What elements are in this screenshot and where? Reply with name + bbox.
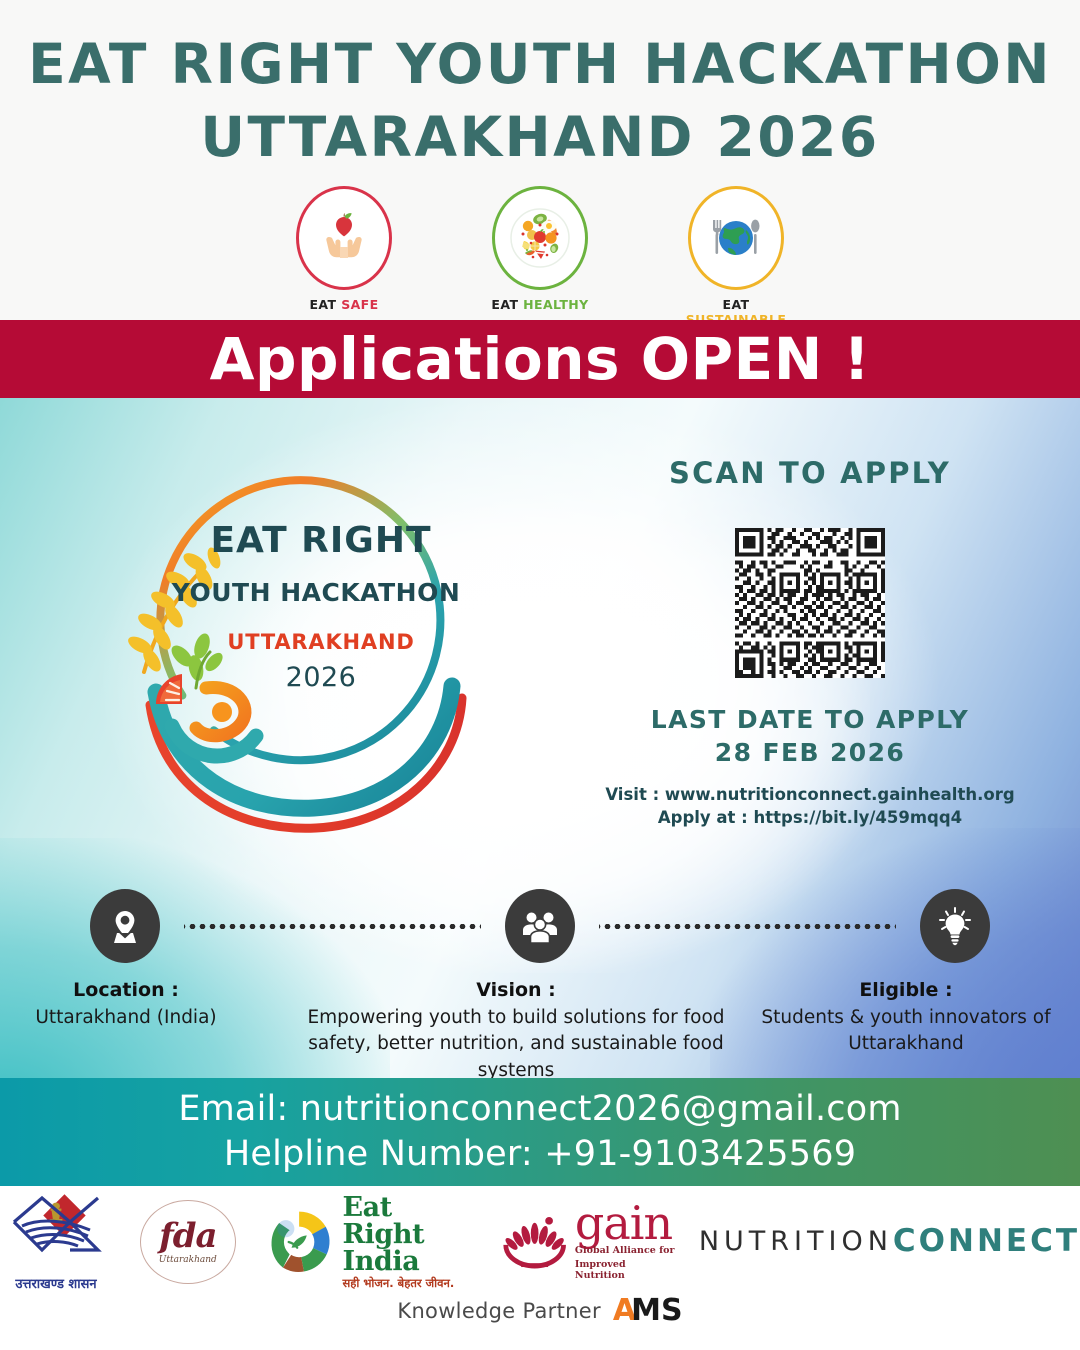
nutrition-connect-line-2: CONNECT: [893, 1226, 1080, 1258]
location-heading: Location :: [0, 979, 276, 1001]
badge-eat-sustainable: EAT SUSTAINABLE: [684, 186, 788, 327]
applications-open-banner: Applications OPEN !: [0, 320, 1080, 398]
hands-holding-apple-icon: [296, 186, 392, 290]
apply-column: SCAN TO APPLY: [600, 456, 1020, 829]
last-date-label: LAST DATE TO APPLY: [600, 704, 1020, 737]
banner-text: Applications OPEN !: [210, 325, 871, 393]
info-row: Location : Uttarakhand (India) Vision : …: [0, 883, 1080, 1073]
badge-label-eat-safe: EAT SAFE: [292, 297, 396, 312]
helpline-line[interactable]: Helpline Number: +91-9103425569: [224, 1132, 856, 1177]
nutrition-connect-line-1: NUTRITION: [699, 1228, 893, 1256]
info-block-eligible: Eligible : Students & youth innovators o…: [756, 979, 1056, 1058]
logo-line-1: EAT RIGHT: [206, 520, 436, 561]
eat-right-badges: EAT SAFE: [0, 186, 1080, 327]
gain-subtitle-line-1: Global Alliance for: [575, 1245, 675, 1256]
eligible-body: Students & youth innovators of Uttarakha…: [756, 1005, 1056, 1058]
ams-logo: A MS: [613, 1296, 683, 1326]
globe-fork-spoon-icon: [688, 186, 784, 290]
logo-line-2: YOUTH HACKATHON: [166, 578, 466, 607]
last-date-block: LAST DATE TO APPLY 28 FEB 2026: [600, 704, 1020, 769]
uttarakhand-government-logo: उत्तराखण्ड शासन: [0, 1192, 112, 1292]
eat-right-india-logo: Eat Right India सही भोजन. बेहतर जीवन.: [263, 1194, 475, 1290]
email-line[interactable]: Email: nutritionconnect2026@gmail.com: [178, 1087, 901, 1132]
gain-subtitle-line-2: Improved Nutrition: [575, 1259, 675, 1282]
title-line-2: UTTARAKHAND 2026: [0, 101, 1080, 174]
location-pin-icon: [90, 889, 160, 963]
badge-eat-healthy: EAT HEALTHY: [488, 186, 592, 327]
fda-uttarakhand-logo: fda Uttarakhand: [136, 1200, 239, 1284]
eligible-heading: Eligible :: [756, 979, 1056, 1001]
page-title: EAT RIGHT YOUTH HACKATHON UTTARAKHAND 20…: [0, 0, 1080, 173]
contact-band: Email: nutritionconnect2026@gmail.com He…: [0, 1078, 1080, 1186]
badge-eat-safe: EAT SAFE: [292, 186, 396, 327]
info-block-location: Location : Uttarakhand (India): [0, 979, 276, 1031]
fda-caption: Uttarakhand: [159, 1255, 217, 1265]
eat-right-india-tagline: सही भोजन. बेहतर जीवन.: [342, 1278, 475, 1290]
connector-dots-left: [184, 924, 481, 929]
info-texts-row: Location : Uttarakhand (India) Vision : …: [0, 979, 1080, 1078]
info-block-vision: Vision : Empowering youth to build solut…: [276, 979, 756, 1078]
lightbulb-icon: [920, 889, 990, 963]
eat-right-india-line-2: India: [342, 1248, 475, 1275]
location-body: Uttarakhand (India): [0, 1005, 276, 1031]
connector-dots-right: [599, 924, 896, 929]
main-content-section: EAT RIGHT YOUTH HACKATHON UTTARAKHAND 20…: [0, 398, 1080, 1078]
knowledge-partner-label: Knowledge Partner: [397, 1299, 601, 1323]
nutrition-connect-logo: NUTRITION CONNECT: [699, 1226, 1080, 1258]
header-section: EAT RIGHT YOUTH HACKATHON UTTARAKHAND 20…: [0, 0, 1080, 320]
healthy-food-plate-icon: [492, 186, 588, 290]
qr-code[interactable]: [735, 528, 885, 678]
eat-right-india-line-1: Eat Right: [342, 1194, 475, 1248]
knowledge-partner-row: Knowledge Partner A MS: [0, 1296, 1080, 1326]
visit-website-line[interactable]: Visit : www.nutritionconnect.gainhealth.…: [600, 783, 1020, 806]
info-icons-row: [0, 883, 1080, 969]
gain-wordmark: gain: [575, 1203, 675, 1243]
logo-line-4: 2026: [206, 662, 436, 693]
vision-body: Empowering youth to build solutions for …: [276, 1005, 756, 1078]
people-group-icon: [505, 889, 575, 963]
footer-section: उत्तराखण्ड शासन fda Uttarakhand: [0, 1186, 1080, 1350]
partner-logos-row: उत्तराखण्ड शासन fda Uttarakhand: [0, 1192, 1080, 1292]
badge-label-eat-healthy: EAT HEALTHY: [488, 297, 592, 312]
poster-root: EAT RIGHT YOUTH HACKATHON UTTARAKHAND 20…: [0, 0, 1080, 1350]
title-line-1: EAT RIGHT YOUTH HACKATHON: [28, 32, 1052, 96]
event-logo: EAT RIGHT YOUTH HACKATHON UTTARAKHAND 20…: [110, 460, 500, 835]
fda-text: fda: [159, 1219, 216, 1253]
ams-letters-ms: MS: [631, 1296, 682, 1326]
uttarakhand-government-caption: उत्तराखण्ड शासन: [0, 1274, 112, 1292]
apply-link-line[interactable]: Apply at : https://bit.ly/459mqq4: [600, 806, 1020, 829]
last-date-value: 28 FEB 2026: [600, 737, 1020, 770]
vision-heading: Vision :: [276, 979, 756, 1001]
scan-to-apply-heading: SCAN TO APPLY: [600, 456, 1020, 490]
logo-line-3: UTTARAKHAND: [196, 630, 446, 654]
gain-logo: gain Global Alliance for Improved Nutrit…: [500, 1203, 675, 1282]
visit-links: Visit : www.nutritionconnect.gainhealth.…: [600, 783, 1020, 829]
